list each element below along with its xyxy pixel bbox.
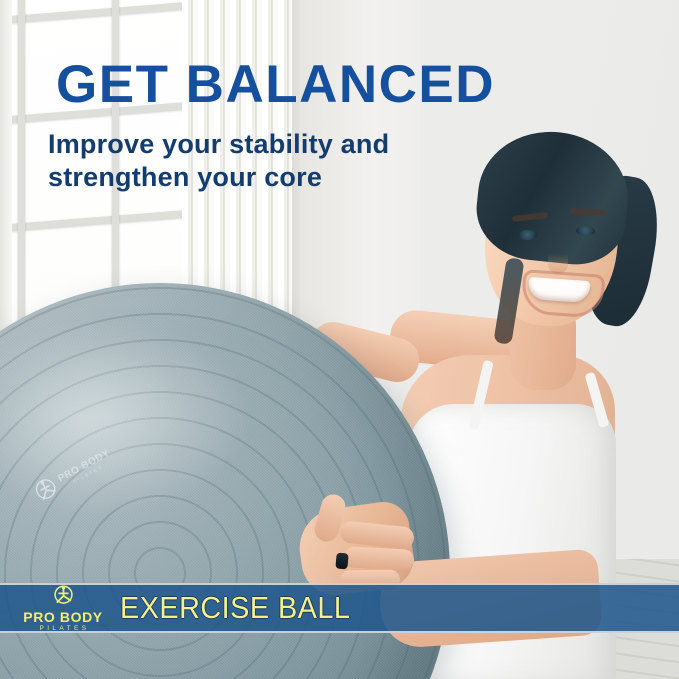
ring [335,553,348,570]
brand-logo: PRO BODY PILATES [0,584,120,633]
product-title: EXERCISE BALL [120,590,350,626]
product-ad-image: PRO BODY PILATES GET BALANCED Improve yo… [0,0,679,679]
headline: GET BALANCED [56,58,495,111]
finger [343,546,414,571]
subheadline: Improve your stability and strengthen yo… [48,128,448,194]
brand-tagline: PILATES [6,626,120,633]
nose [548,240,568,274]
bottom-banner: PRO BODY PILATES EXERCISE BALL [0,583,679,633]
pilates-figure-icon [51,584,76,609]
brand-name: PRO BODY [6,610,120,624]
